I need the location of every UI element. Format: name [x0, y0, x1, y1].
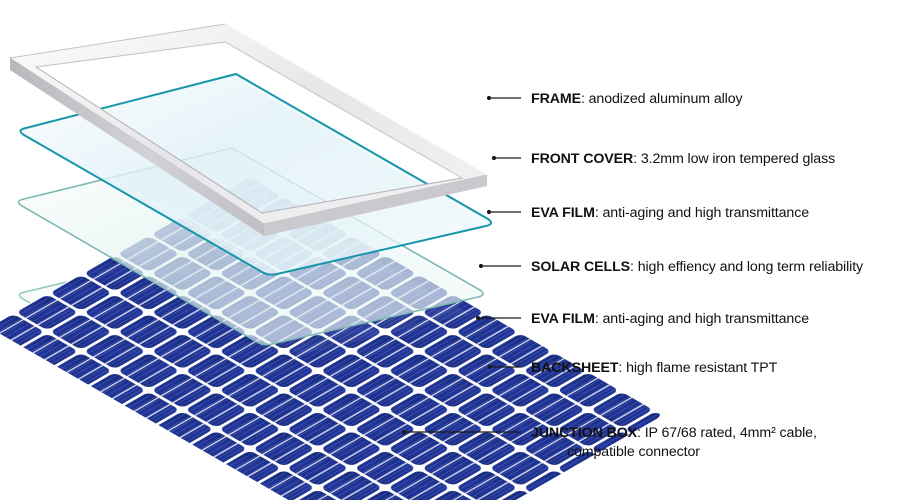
callout-junction-box: JUNCTION BOX: IP 67/68 rated, 4mm² cable…: [531, 424, 861, 462]
callout-labels: FRAME: anodized aluminum alloy FRONT COV…: [0, 0, 900, 500]
callout-front-cover-separator: :: [633, 151, 641, 167]
callout-junction-box-text: IP 67/68 rated, 4mm² cable,: [645, 425, 817, 441]
callout-solar-cells-text: high effiency and long term reliability: [638, 259, 863, 275]
callout-front-cover: FRONT COVER: 3.2mm low iron tempered gla…: [531, 150, 835, 169]
solar-panel-exploded-diagram: FRAME: anodized aluminum alloy FRONT COV…: [0, 0, 900, 500]
callout-eva-film-bottom-separator: :: [595, 311, 603, 327]
callout-frame-separator: :: [581, 91, 589, 107]
callout-frame: FRAME: anodized aluminum alloy: [531, 90, 743, 109]
callout-backsheet-text: high flame resistant TPT: [626, 360, 777, 376]
callout-solar-cells-separator: :: [630, 259, 638, 275]
callout-frame-text: anodized aluminum alloy: [589, 91, 743, 107]
callout-eva-film-top: EVA FILM: anti-aging and high transmitta…: [531, 204, 809, 223]
callout-eva-film-bottom: EVA FILM: anti-aging and high transmitta…: [531, 310, 809, 329]
callout-backsheet: BACKSHEET: high flame resistant TPT: [531, 359, 777, 378]
callout-eva-film-bottom-text: anti-aging and high transmittance: [603, 311, 810, 327]
callout-front-cover-label: FRONT COVER: [531, 151, 633, 167]
callout-eva-film-top-separator: :: [595, 205, 603, 221]
callout-solar-cells: SOLAR CELLS: high effiency and long term…: [531, 258, 863, 277]
callout-front-cover-text: 3.2mm low iron tempered glass: [641, 151, 835, 167]
callout-backsheet-label: BACKSHEET: [531, 360, 618, 376]
callout-junction-box-label: JUNCTION BOX: [531, 425, 637, 441]
callout-eva-film-top-label: EVA FILM: [531, 205, 595, 221]
callout-junction-box-separator: :: [637, 425, 645, 441]
callout-backsheet-separator: :: [618, 360, 626, 376]
callout-solar-cells-label: SOLAR CELLS: [531, 259, 630, 275]
callout-frame-label: FRAME: [531, 91, 581, 107]
callout-junction-box-text-line2: compatible connector: [531, 443, 861, 462]
callout-eva-film-top-text: anti-aging and high transmittance: [603, 205, 810, 221]
callout-eva-film-bottom-label: EVA FILM: [531, 311, 595, 327]
